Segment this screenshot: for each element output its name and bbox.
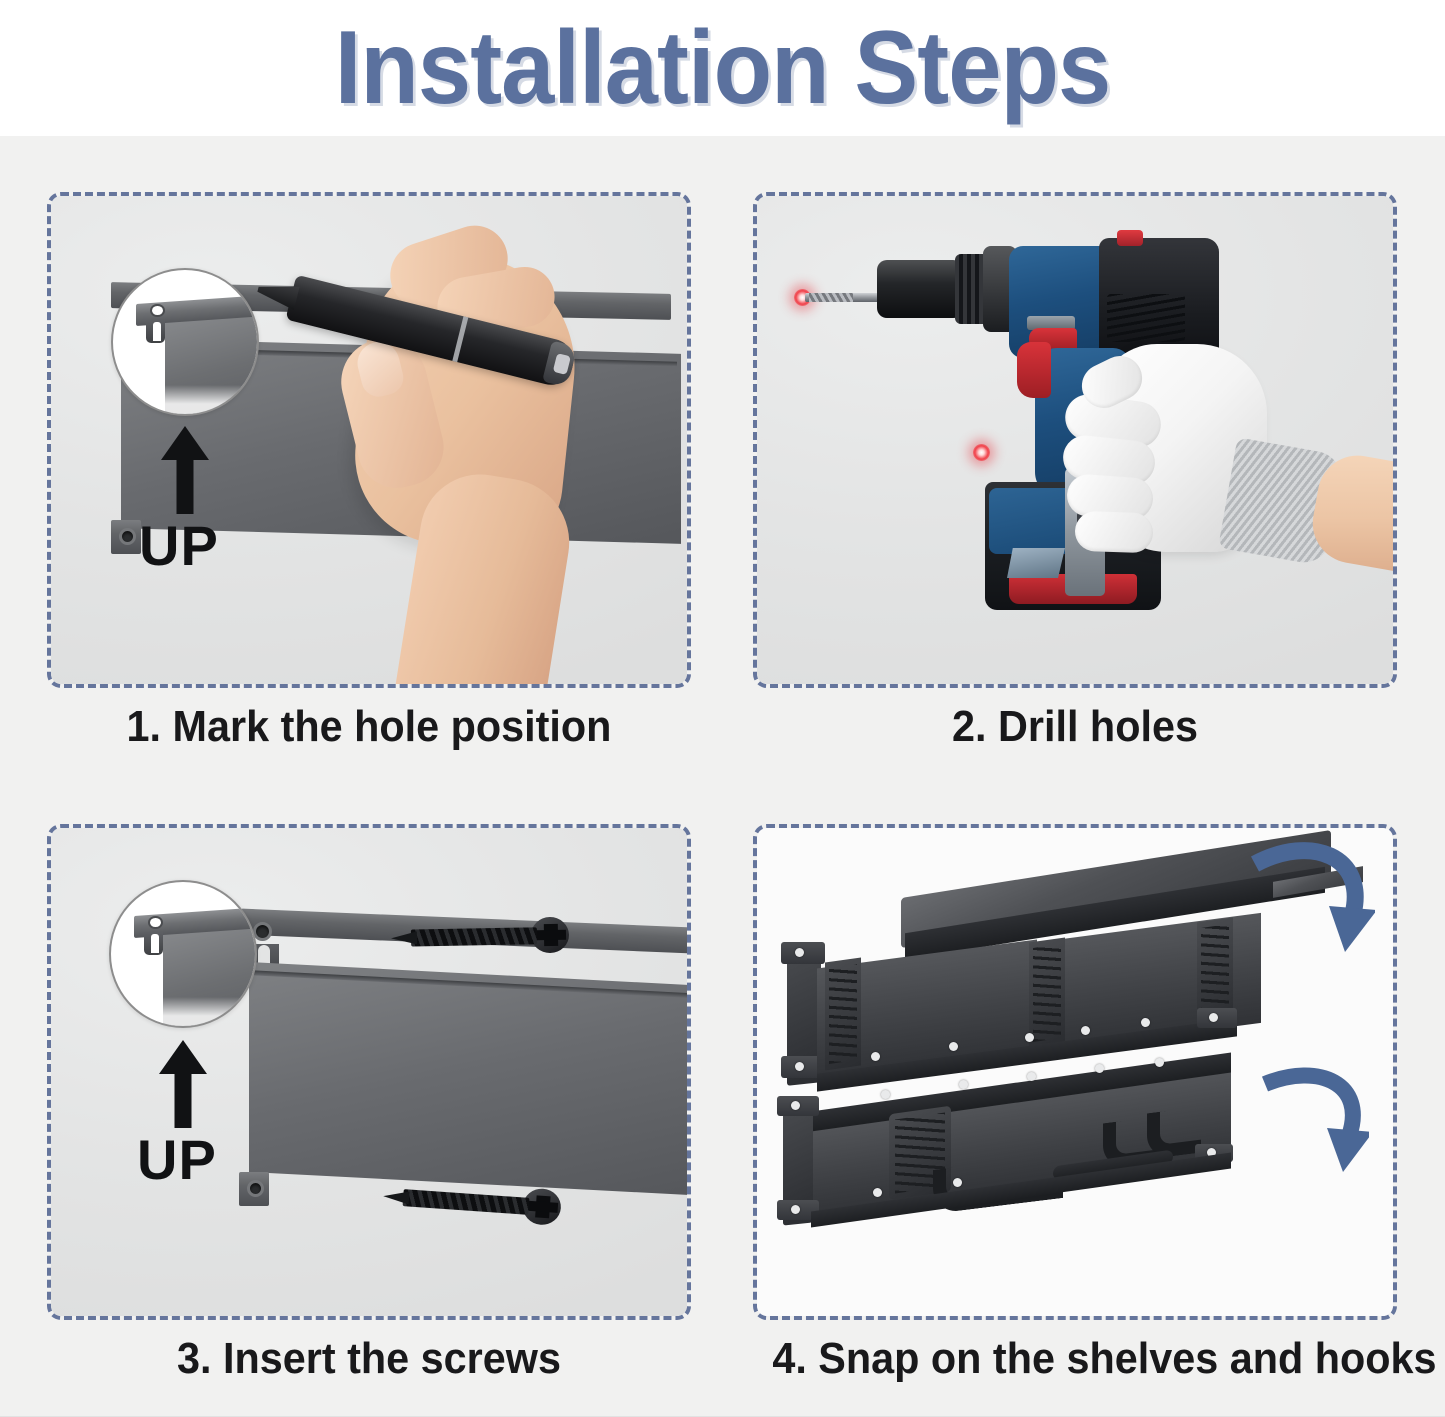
- curved-snap-on-arrow-icon-shelf: [1245, 840, 1375, 970]
- step-card-4: 4. Snap on the shelves and hooks: [753, 824, 1397, 1384]
- hook-rail-rivet-1: [881, 1090, 890, 1099]
- screw-threads: [403, 1189, 530, 1215]
- up-direction-label: UP: [137, 1132, 217, 1188]
- drill-bit-flute: [809, 293, 853, 302]
- shelf-rivet-3: [1025, 1033, 1034, 1042]
- hook-rail-bottom-rivet-2: [953, 1178, 962, 1187]
- drill-direction-button[interactable]: [1117, 230, 1143, 246]
- arrow-head: [159, 1040, 207, 1074]
- page-title: Installation Steps: [335, 16, 1111, 120]
- step-card-3: UP 3. Insert the screws: [47, 824, 691, 1384]
- screw-point: [391, 931, 417, 944]
- step-caption-1: 1. Mark the hole position: [66, 704, 671, 750]
- hook-rail-mount-hole-top: [791, 1101, 800, 1110]
- hook-rail-rivet-5: [1155, 1058, 1164, 1067]
- step-card-2: 2. Drill holes: [753, 192, 1397, 752]
- magnified-detail-circle-icon: [109, 880, 257, 1028]
- arrow-shaft: [175, 1072, 192, 1128]
- arrow-shaft: [177, 458, 194, 514]
- step-image-frame-4: [753, 824, 1397, 1320]
- rail-screw-hole-top: [253, 922, 272, 941]
- shelf-rivet-5: [1141, 1018, 1150, 1027]
- step-image-frame-1: UP: [47, 192, 691, 688]
- callout-white-fade: [111, 997, 255, 1026]
- screw-upper: [381, 914, 612, 958]
- shelf-brace-ribs-middle: [1033, 944, 1061, 1042]
- step-image-frame-3: UP: [47, 824, 691, 1320]
- steps-grid: UP 1. Mark the hole position: [0, 136, 1445, 1417]
- step-caption-2: 2. Drill holes: [772, 704, 1377, 750]
- shelf-mount-hole-top-left: [795, 948, 804, 957]
- callout-rail-notch: [153, 322, 161, 341]
- up-direction-label: UP: [139, 518, 219, 574]
- step-illustration-1: UP: [51, 196, 687, 684]
- screw-phillips-slot-h: [536, 930, 566, 941]
- rail-face-panel: [249, 962, 687, 1196]
- curved-snap-on-arrow-icon-hook: [1249, 1066, 1369, 1186]
- callout-white-fade: [113, 385, 257, 414]
- snap-arrow-shelf-svg: [1245, 840, 1375, 970]
- step-illustration-4: [757, 828, 1393, 1316]
- rail-screw-hole-bottom: [247, 1180, 264, 1197]
- step-illustration-2: [757, 196, 1393, 684]
- gloved-hand: [1057, 326, 1387, 656]
- screw-threads: [411, 927, 537, 946]
- arrow-head: [161, 426, 209, 460]
- step-card-1: UP 1. Mark the hole position: [47, 192, 691, 752]
- hook-rail-rivet-3: [1027, 1072, 1036, 1081]
- shelf-brace-ribs-left: [829, 964, 857, 1064]
- hook-rail-bottom-rivet-1: [873, 1188, 882, 1197]
- step-caption-3: 3. Insert the screws: [66, 1336, 671, 1382]
- shelf-rivet-2: [949, 1042, 958, 1051]
- callout-rail-notch: [151, 934, 159, 953]
- hook-rail-rivet-2: [959, 1080, 968, 1089]
- hook-rail-mount-hole-bottom: [791, 1205, 800, 1214]
- glove-finger-pinky: [1074, 511, 1153, 554]
- step-image-frame-2: [753, 192, 1397, 688]
- drill-chuck: [877, 260, 963, 318]
- callout-rail-hole: [148, 916, 162, 929]
- step-caption-4: 4. Snap on the shelves and hooks: [772, 1336, 1377, 1382]
- shelf-mount-hole-right: [1209, 1013, 1218, 1022]
- callout-rail-hole: [150, 304, 164, 317]
- snap-arrow-hook-svg: [1249, 1066, 1369, 1186]
- screw-phillips-slot-h: [528, 1201, 559, 1213]
- title-bar: Installation Steps: [0, 0, 1445, 136]
- magnified-detail-circle-icon: [111, 268, 259, 416]
- rail-screw-hole-bottom: [119, 528, 136, 545]
- drill-trigger[interactable]: [1017, 342, 1051, 398]
- shelf-brace-ribs-right: [1201, 924, 1229, 1020]
- hook-rail-rivet-4: [1095, 1064, 1104, 1073]
- marker-band: [452, 316, 468, 362]
- shelf-rivet-4: [1081, 1026, 1090, 1035]
- step-illustration-3: UP: [51, 828, 687, 1316]
